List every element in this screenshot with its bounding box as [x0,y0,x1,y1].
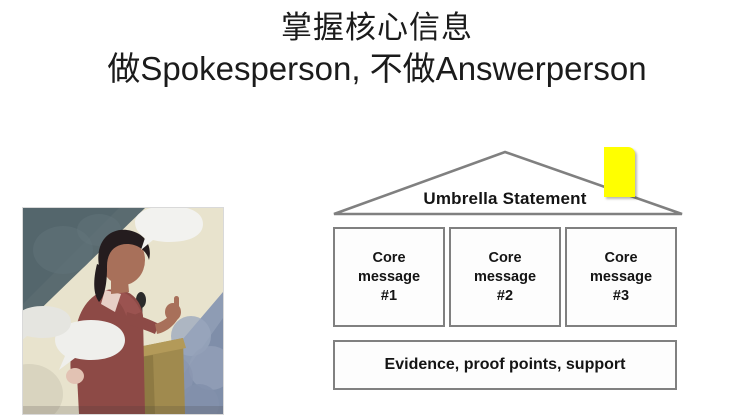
presentation-slide: 掌握核心信息 做Spokesperson, 不做Answerperson [0,0,754,420]
core-message-row: Core message #1 Core message #2 Core mes… [333,227,677,327]
core-message-box-3[interactable]: Core message #3 [565,227,677,327]
title-line-secondary: 做Spokesperson, 不做Answerperson [0,48,754,90]
illustration-artwork [23,208,223,414]
core-message-label-3: Core message #3 [590,249,652,306]
core-message-box-1[interactable]: Core message #1 [333,227,445,327]
title-line-primary: 掌握核心信息 [0,8,754,48]
yellow-sticky-note[interactable] [604,147,635,197]
foundation-box[interactable]: Evidence, proof points, support [333,340,677,390]
core-message-label-1: Core message #1 [358,249,420,306]
umbrella-message-house-diagram: Umbrella Statement Core message #1 Core … [330,148,686,396]
core-message-label-2: Core message #2 [474,249,536,306]
core-message-box-2[interactable]: Core message #2 [449,227,561,327]
foundation-label: Evidence, proof points, support [385,356,626,374]
slide-title: 掌握核心信息 做Spokesperson, 不做Answerperson [0,8,754,90]
woman-speaking-at-podium-illustration [22,207,224,415]
